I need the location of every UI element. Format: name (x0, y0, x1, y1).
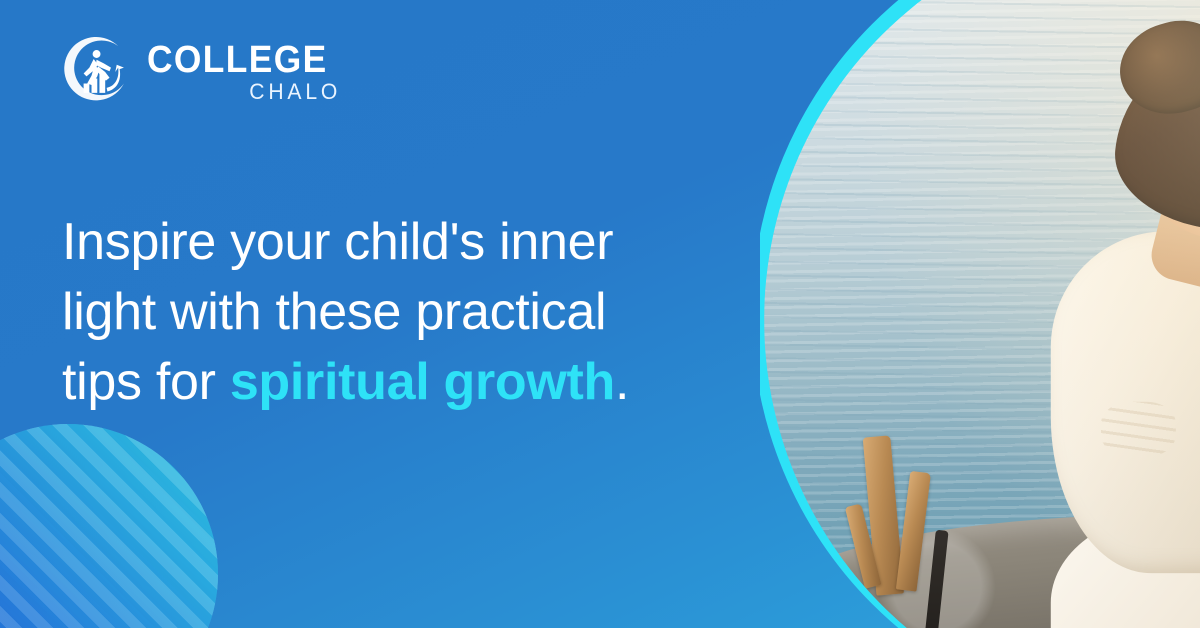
stripe-tint-over (0, 424, 218, 628)
striped-circle-decoration (0, 424, 218, 628)
headline-accent-phrase: spiritual growth (230, 353, 615, 411)
headline-line-1: Inspire your child's inner (62, 213, 613, 271)
hero-photo-panel (760, 0, 1200, 628)
photo-scene (764, 0, 1200, 628)
photo-clip-mask (760, 0, 1200, 628)
hair-bun (1110, 9, 1200, 126)
fabric-folds (1101, 402, 1176, 457)
college-chalo-runner-chart-crescent-icon (62, 36, 134, 108)
headline-line-2: light with these practical (62, 283, 606, 341)
logo-primary-text: COLLEGE (147, 42, 328, 78)
torso (1051, 231, 1200, 573)
brand-logo[interactable]: COLLEGE CHALO (62, 33, 341, 111)
headline: Inspire your child's inner light with th… (62, 207, 742, 417)
headline-line-3-suffix: . (615, 353, 629, 411)
logo-wordmark: COLLEGE CHALO (147, 39, 341, 106)
meditating-woman (926, 0, 1200, 628)
promo-banner: COLLEGE CHALO Inspire your child's inner… (0, 0, 1200, 628)
logo-secondary-text: CHALO (155, 78, 341, 106)
headline-line-3-prefix: tips for (62, 353, 230, 411)
hero-photo (764, 0, 1200, 628)
